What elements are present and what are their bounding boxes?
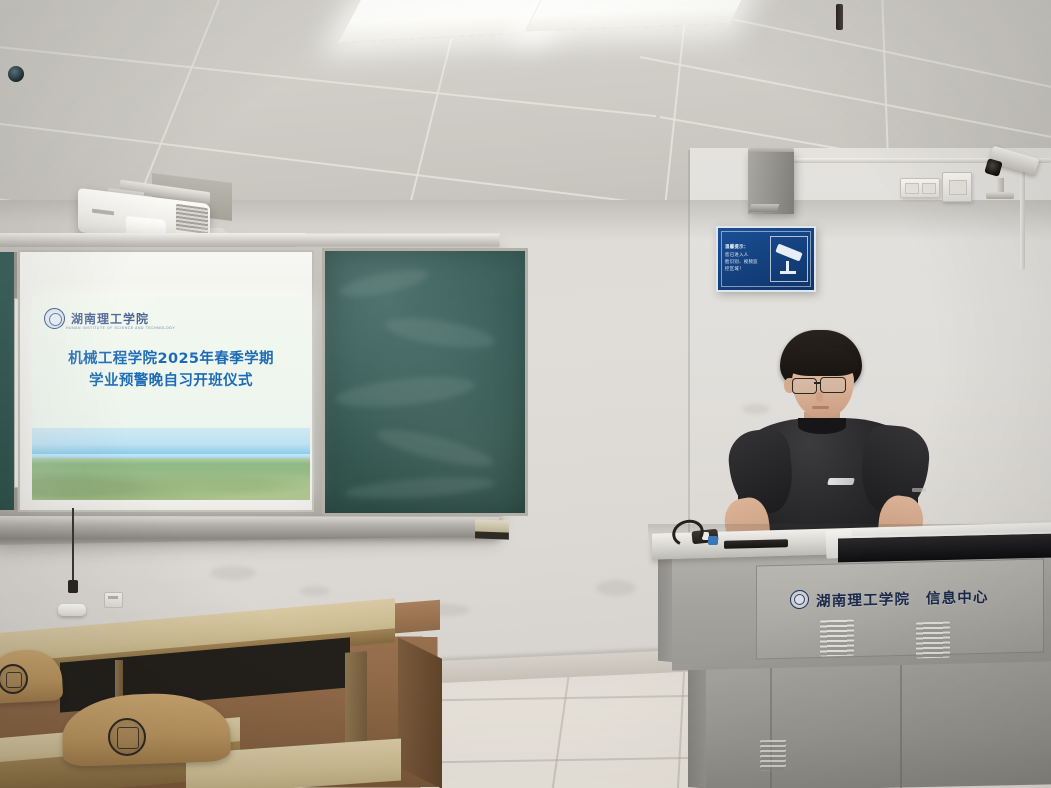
slide-photo-banner — [32, 428, 310, 500]
person-mouth — [812, 406, 829, 409]
ceiling-hanger — [836, 4, 843, 30]
person-hair-front — [786, 346, 858, 376]
security-camera-base — [986, 192, 1014, 199]
chalkboard — [322, 248, 528, 516]
sign-text-block: 温馨提示： 您已进入人 脸识别、视频监 控区域！ — [718, 244, 777, 273]
shirt-brand-logo — [827, 478, 855, 485]
power-outlet[interactable] — [104, 592, 123, 608]
sign-heading: 温馨提示： — [725, 244, 777, 251]
conduit-pipe-drop — [1020, 160, 1025, 270]
sleeve-tag — [912, 488, 926, 492]
wall-speaker — [748, 152, 794, 214]
podium-base — [706, 656, 1051, 788]
podium-item-strip[interactable] — [724, 539, 788, 549]
slide-title-line-1: 机械工程学院2025年春季学期 — [32, 348, 310, 370]
chair-emblem-icon — [108, 718, 146, 756]
board-power-plug — [68, 580, 78, 593]
slide-org-name-english: HUNAN INSTITUTE OF SCIENCE AND TECHNOLOG… — [66, 326, 175, 330]
projected-slide: 湖南理工学院 HUNAN INSTITUTE OF SCIENCE AND TE… — [32, 296, 310, 500]
sign-line-2: 脸识别、视频监 — [725, 259, 777, 266]
podium-base-seam — [900, 662, 902, 788]
smoke-detector-icon — [8, 66, 24, 82]
slide-title: 机械工程学院2025年春季学期 学业预警晚自习开班仪式 — [32, 348, 310, 393]
board-chalk-tray — [0, 516, 499, 538]
chalk-eraser[interactable] — [475, 519, 509, 539]
sign-line-1: 您已进入人 — [725, 252, 777, 259]
podium-base-vent — [760, 740, 786, 771]
podium-vent — [820, 620, 854, 657]
whiteboard-eraser[interactable] — [58, 604, 86, 616]
classroom-photo: 湖南理工学院 HUNAN INSTITUTE OF SCIENCE AND TE… — [0, 0, 1051, 788]
person-collar — [798, 418, 846, 434]
desk-leg — [345, 651, 367, 745]
board-power-cable — [72, 508, 74, 582]
podium-label: 湖南理工学院 信息中心 — [816, 586, 989, 611]
podium-monitor[interactable] — [838, 532, 1051, 563]
sign-line-3: 控区域！ — [725, 266, 777, 273]
slide-title-line-2: 学业预警晚自习开班仪式 — [32, 370, 310, 392]
podium-item-blue[interactable] — [708, 536, 718, 545]
light-switch-plate[interactable] — [900, 178, 940, 198]
projector-vent — [176, 204, 208, 234]
slide-org-name: 湖南理工学院 — [71, 310, 149, 327]
ceiling-light-panel — [525, 0, 749, 32]
power-switch-plate[interactable] — [942, 172, 972, 202]
school-seal-icon — [44, 308, 65, 329]
glasses-lens-right — [820, 377, 846, 393]
board-top-rail — [0, 233, 499, 247]
platform-edge — [398, 637, 442, 788]
glasses-lens-left — [792, 378, 817, 394]
glasses-bridge — [814, 382, 821, 384]
person-nose — [816, 392, 823, 402]
surveillance-warning-sign: 温馨提示： 您已进入人 脸识别、视频监 控区域！ — [716, 226, 816, 292]
podium-vent — [916, 622, 950, 659]
